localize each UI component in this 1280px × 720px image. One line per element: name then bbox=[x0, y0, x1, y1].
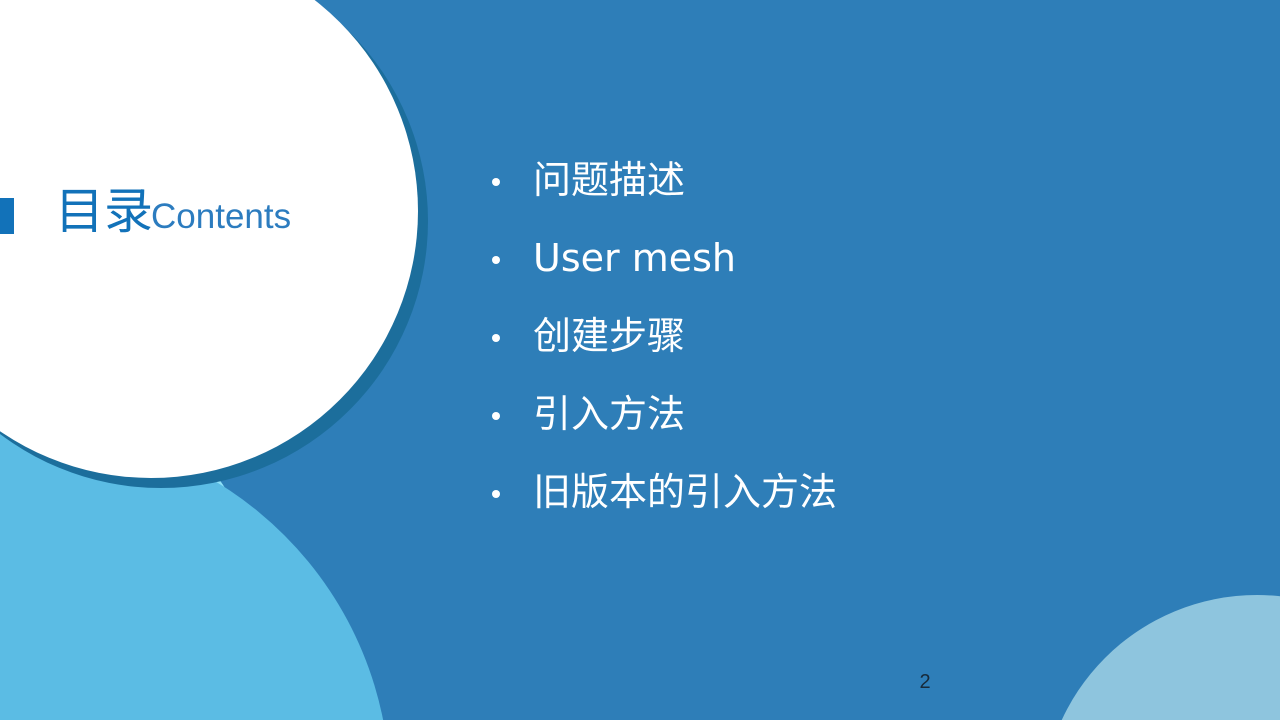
bottom-right-light-circle-decoration bbox=[1042, 595, 1280, 720]
pale-cyan-circle-decoration bbox=[0, 360, 270, 720]
bullet-icon bbox=[492, 490, 500, 498]
page-number: 2 bbox=[905, 671, 945, 694]
bullet-icon bbox=[492, 412, 500, 420]
white-circle-shadow-decoration bbox=[0, 0, 428, 488]
list-item-label: 旧版本的引入方法 bbox=[533, 472, 837, 514]
title-chinese: 目录 bbox=[55, 187, 153, 236]
bullet-icon bbox=[492, 256, 500, 264]
list-item-label: 引入方法 bbox=[533, 394, 685, 436]
list-item[interactable]: 旧版本的引入方法 bbox=[492, 454, 1132, 532]
slide-canvas: 目录 Contents 问题描述 User mesh 创建步骤 引入方法 旧版本… bbox=[0, 0, 1280, 720]
title-english: Contents bbox=[151, 199, 291, 234]
list-item[interactable]: User mesh bbox=[492, 220, 1132, 298]
sky-blue-circle-decoration bbox=[0, 430, 390, 720]
contents-list: 问题描述 User mesh 创建步骤 引入方法 旧版本的引入方法 bbox=[492, 142, 1132, 532]
title-accent-marker bbox=[0, 198, 14, 234]
title-text-group: 目录 Contents bbox=[55, 187, 291, 236]
list-item[interactable]: 引入方法 bbox=[492, 376, 1132, 454]
page-title: 目录 Contents bbox=[0, 176, 291, 236]
list-item[interactable]: 问题描述 bbox=[492, 142, 1132, 220]
list-item-label: 问题描述 bbox=[533, 160, 685, 202]
list-item[interactable]: 创建步骤 bbox=[492, 298, 1132, 376]
bullet-icon bbox=[492, 334, 500, 342]
bullet-icon bbox=[492, 178, 500, 186]
list-item-label: 创建步骤 bbox=[533, 316, 685, 358]
list-item-label: User mesh bbox=[533, 238, 736, 280]
